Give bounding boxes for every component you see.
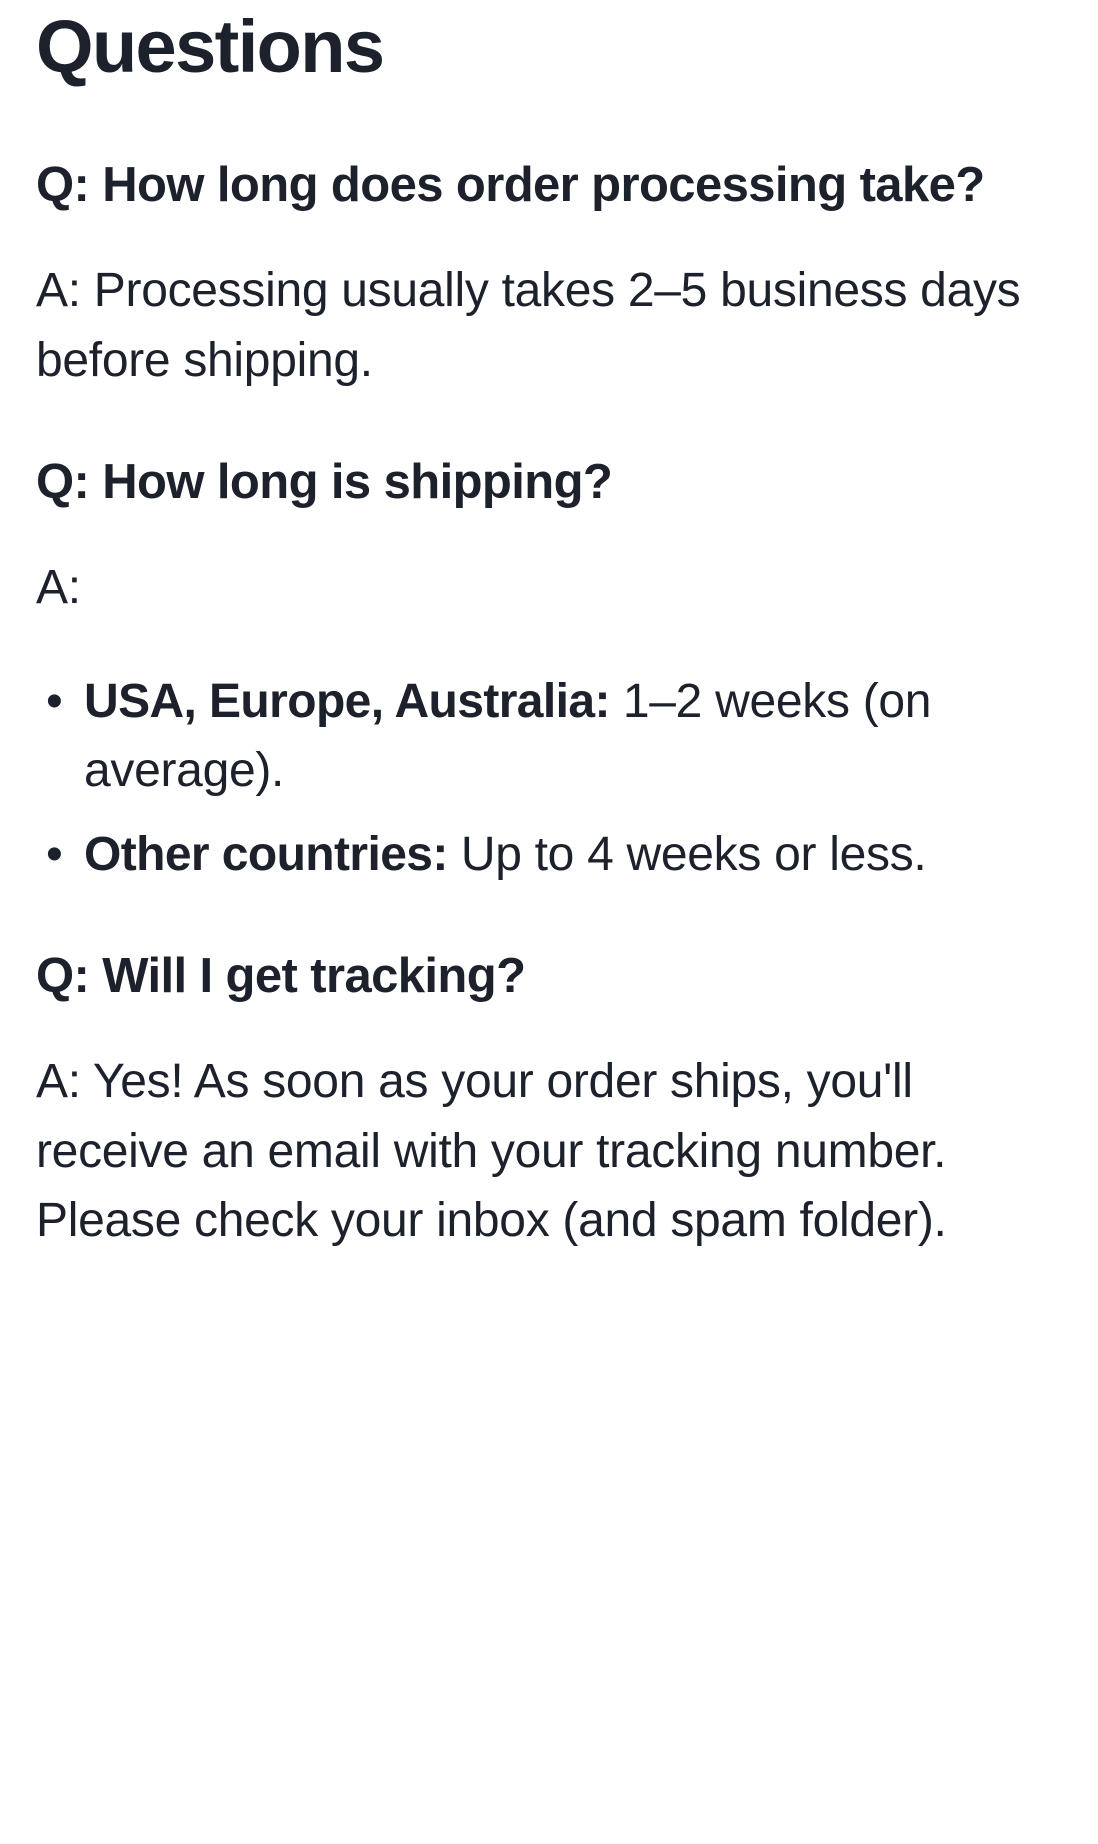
list-item-label: Other countries: xyxy=(84,828,448,881)
faq-item-processing-time: Q: How long does order processing take? … xyxy=(36,151,1058,396)
faq-question: Q: How long is shipping? xyxy=(36,448,1058,518)
faq-answer: A: xyxy=(36,553,1058,623)
list-item: •Other countries: Up to 4 weeks or less. xyxy=(36,820,1058,890)
faq-answer: A: Processing usually takes 2–5 business… xyxy=(36,256,1058,395)
faq-page: Questions Q: How long does order process… xyxy=(0,0,1098,1844)
faq-item-shipping-time: Q: How long is shipping? A: •USA, Europe… xyxy=(36,448,1058,890)
shipping-regions-list: •USA, Europe, Australia: 1–2 weeks (on a… xyxy=(36,667,1058,890)
list-item-label: USA, Europe, Australia: xyxy=(84,675,610,728)
bullet-point-icon: • xyxy=(46,667,63,737)
faq-question: Q: Will I get tracking? xyxy=(36,942,1058,1012)
faq-item-tracking: Q: Will I get tracking? A: Yes! As soon … xyxy=(36,942,1058,1256)
page-title: Questions xyxy=(36,6,1058,89)
faq-question: Q: How long does order processing take? xyxy=(36,151,1058,221)
list-item: •USA, Europe, Australia: 1–2 weeks (on a… xyxy=(36,667,1058,806)
bullet-point-icon: • xyxy=(46,820,63,890)
faq-answer: A: Yes! As soon as your order ships, you… xyxy=(36,1047,1058,1256)
list-item-text: Up to 4 weeks or less. xyxy=(448,828,927,881)
